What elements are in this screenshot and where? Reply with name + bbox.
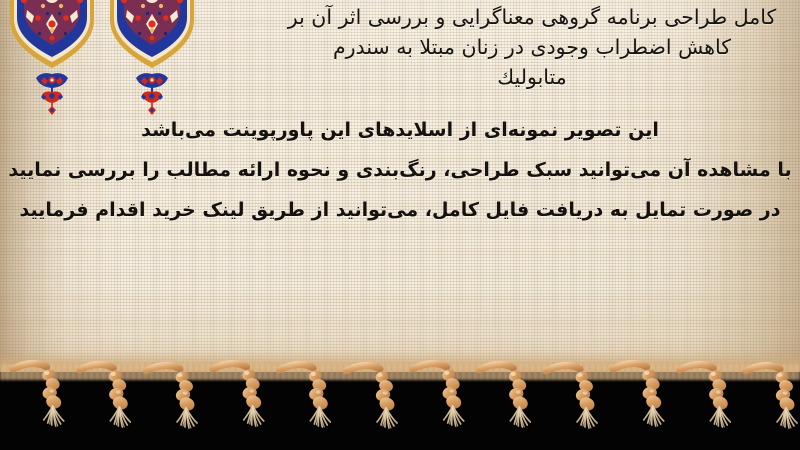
slide-body-line-1: این تصویر نمونه‌ای از اسلایدهای این پاور… bbox=[0, 110, 800, 150]
slide-body-line-2: با مشاهده آن می‌توانید سبک طراحی، رنگ‌بن… bbox=[0, 150, 800, 190]
fringe-tassel bbox=[213, 363, 264, 426]
fringe-tassel-row bbox=[0, 352, 800, 450]
fringe-tassel bbox=[79, 364, 130, 427]
presentation-slide: کامل طراحی برنامه گروهی معناگرایی و بررس… bbox=[0, 0, 800, 450]
ornament-pendant-2 bbox=[136, 73, 168, 115]
slide-title-line-2: کاهش اضطراب وجودی در زنان مبتلا به سندرم bbox=[272, 32, 792, 62]
fringe-tassel bbox=[346, 365, 397, 428]
ornament-medallion-1 bbox=[10, 0, 94, 68]
slide-title: کامل طراحی برنامه گروهی معناگرایی و بررس… bbox=[272, 2, 792, 92]
slide-body-line-3: در صورت تمایل به دریافت فایل کامل، می‌تو… bbox=[0, 190, 800, 230]
fringe-tassel bbox=[613, 363, 664, 426]
carpet-knotted-fringe bbox=[0, 352, 800, 450]
fringe-tassel bbox=[546, 365, 597, 428]
fringe-tassel bbox=[479, 364, 530, 427]
fringe-tassel bbox=[413, 363, 464, 426]
slide-title-line-3: متابولیك bbox=[272, 62, 792, 92]
fringe-tassel bbox=[146, 365, 197, 428]
slide-body: این تصویر نمونه‌ای از اسلایدهای این پاور… bbox=[0, 110, 800, 230]
fringe-tassel bbox=[279, 364, 330, 427]
fringe-tassel bbox=[746, 365, 797, 428]
ornament-medallion-2 bbox=[110, 0, 194, 68]
persian-carpet-medallion-ornament bbox=[0, 0, 230, 116]
fringe-tassel bbox=[13, 363, 64, 426]
ornament-pendant-1 bbox=[36, 73, 68, 115]
fringe-tassel bbox=[679, 364, 730, 427]
slide-title-line-1: کامل طراحی برنامه گروهی معناگرایی و بررس… bbox=[272, 2, 792, 32]
